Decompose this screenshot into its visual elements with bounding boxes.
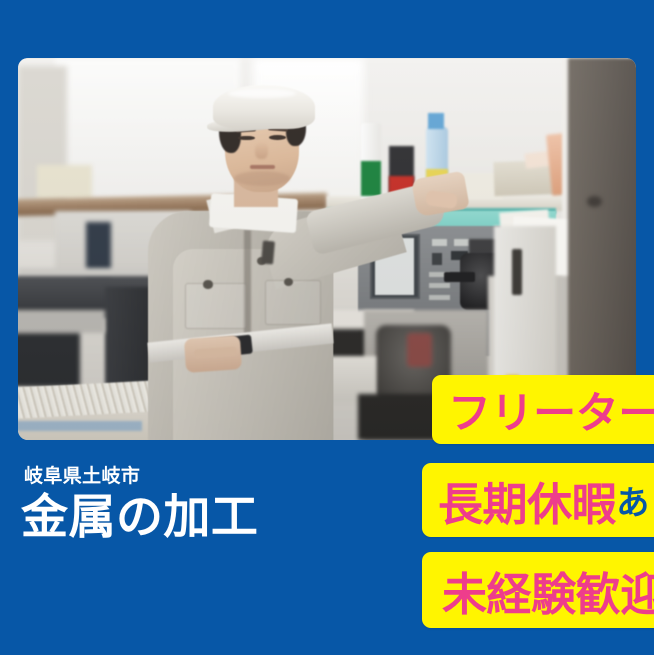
badge-long-holiday: 長期休暇 あり <box>422 463 654 537</box>
badge-long-holiday-suffix: あり <box>616 476 654 524</box>
page-title: 金属の加工 <box>21 490 258 544</box>
badge-freeter-ok-label: フリーターOK <box>448 379 654 441</box>
badge-long-holiday-label: 長期休暇 <box>438 468 616 533</box>
location-label: 岐阜県土岐市 <box>24 461 140 488</box>
badge-no-experience-label: 未経験歓迎 <box>442 558 654 623</box>
badge-freeter-ok: フリーターOK <box>432 375 654 444</box>
job-banner: 岐阜県土岐市 金属の加工 フリーターOK 長期休暇 あり 未経験歓迎 <box>0 0 654 655</box>
badge-no-experience: 未経験歓迎 <box>422 552 654 628</box>
